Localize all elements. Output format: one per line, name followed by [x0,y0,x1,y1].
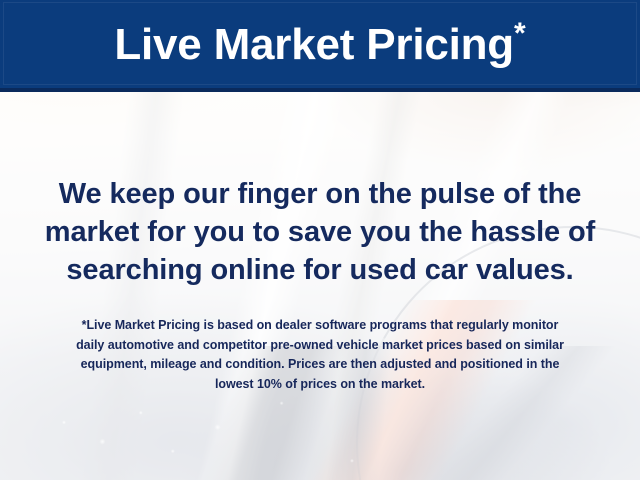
headline-line-2: market for you to save you the hassle of [28,213,612,251]
headline-copy: We keep our finger on the pulse of the m… [28,175,612,289]
disclaimer-line-1: *Live Market Pricing is based on dealer … [30,316,610,336]
title-asterisk: * [514,17,526,50]
page-title-text: Live Market Pricing [114,20,514,69]
disclaimer-line-2: daily automotive and competitor pre-owne… [30,336,610,356]
disclaimer-line-4: lowest 10% of prices on the market. [30,375,610,395]
disclaimer-text: *Live Market Pricing is based on dealer … [30,316,610,394]
headline-line-3: searching online for used car values. [28,251,612,289]
headline-line-1: We keep our finger on the pulse of the [28,175,612,213]
page-title: Live Market Pricing* [114,19,525,69]
live-market-pricing-graphic: Live Market Pricing* We keep our finger … [0,0,640,480]
header-banner: Live Market Pricing* [0,0,640,92]
disclaimer-line-3: equipment, mileage and condition. Prices… [30,355,610,375]
